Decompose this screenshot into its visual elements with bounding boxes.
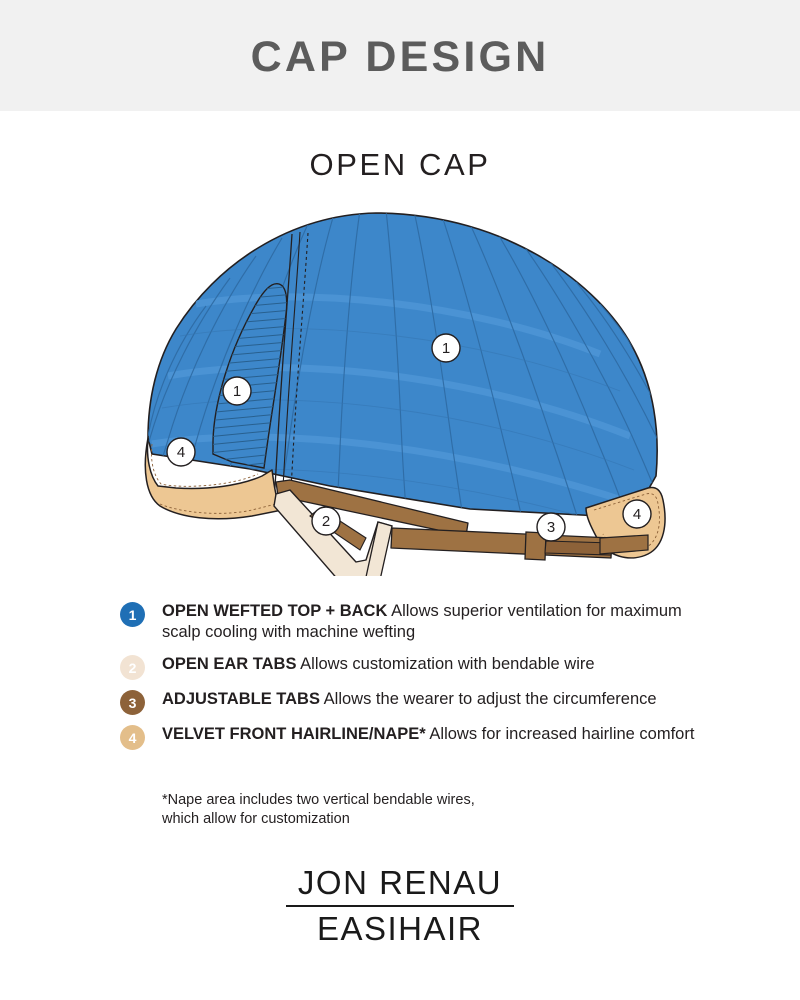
legend-text-3: ADJUSTABLE TABS Allows the wearer to adj… (162, 689, 657, 710)
callout-1-front: 1 (223, 377, 251, 405)
callout-2-ear: 2 (312, 507, 340, 535)
brand-divider (286, 905, 514, 907)
legend-desc-4: Allows for increased hairline comfort (429, 725, 694, 743)
subtitle-container: OPEN CAP (0, 111, 800, 180)
legend-badge-1-number: 1 (129, 608, 137, 622)
legend-desc-2: Allows customization with bendable wire (300, 655, 594, 673)
legend-list: 1 OPEN WEFTED TOP + BACK Allows superior… (120, 601, 700, 762)
callout-3-strap-label: 3 (547, 519, 555, 536)
legend-badge-2-number: 2 (129, 661, 137, 675)
legend-badge-4-number: 4 (129, 731, 137, 745)
legend-item-2: 2 OPEN EAR TABS Allows customization wit… (120, 654, 700, 680)
legend-badge-3: 3 (120, 690, 145, 715)
callout-4-front: 4 (167, 438, 195, 466)
callout-1-top-label: 1 (442, 340, 450, 357)
brand-name-secondary: EASIHAIR (0, 912, 800, 945)
legend-text-4: VELVET FRONT HAIRLINE/NAPE* Allows for i… (162, 724, 694, 745)
legend-text-2: OPEN EAR TABS Allows customization with … (162, 654, 595, 675)
legend-footnote: *Nape area includes two vertical bendabl… (162, 791, 475, 829)
cap-diagram: 1 1 4 2 3 4 (0, 186, 800, 576)
legend-item-1: 1 OPEN WEFTED TOP + BACK Allows superior… (120, 601, 700, 642)
legend-badge-4: 4 (120, 725, 145, 750)
callout-4-front-label: 4 (177, 444, 185, 461)
brand-name-primary: JON RENAU (0, 866, 800, 899)
legend-badge-2: 2 (120, 655, 145, 680)
legend-desc-3: Allows the wearer to adjust the circumfe… (324, 690, 657, 708)
callout-1-top: 1 (432, 334, 460, 362)
legend-item-3: 3 ADJUSTABLE TABS Allows the wearer to a… (120, 689, 700, 715)
callout-4-nape: 4 (623, 500, 651, 528)
brand-logo: JON RENAU EASIHAIR (0, 866, 800, 945)
legend-term-3: ADJUSTABLE TABS (162, 690, 320, 708)
legend-text-1: OPEN WEFTED TOP + BACK Allows superior v… (162, 601, 700, 642)
legend-term-1: OPEN WEFTED TOP + BACK (162, 602, 387, 620)
legend-term-4: VELVET FRONT HAIRLINE/NAPE* (162, 725, 426, 743)
callout-3-strap: 3 (537, 513, 565, 541)
legend-term-2: OPEN EAR TABS (162, 655, 296, 673)
callout-4-nape-label: 4 (633, 506, 641, 523)
page-header: CAP DESIGN (0, 0, 800, 111)
legend-badge-3-number: 3 (129, 696, 137, 710)
legend-item-4: 4 VELVET FRONT HAIRLINE/NAPE* Allows for… (120, 724, 700, 750)
callout-1-front-label: 1 (233, 383, 241, 400)
legend-badge-1: 1 (120, 602, 145, 627)
page-title: CAP DESIGN (251, 32, 550, 79)
callout-2-ear-label: 2 (322, 513, 330, 530)
cap-type-subtitle: OPEN CAP (0, 149, 800, 180)
